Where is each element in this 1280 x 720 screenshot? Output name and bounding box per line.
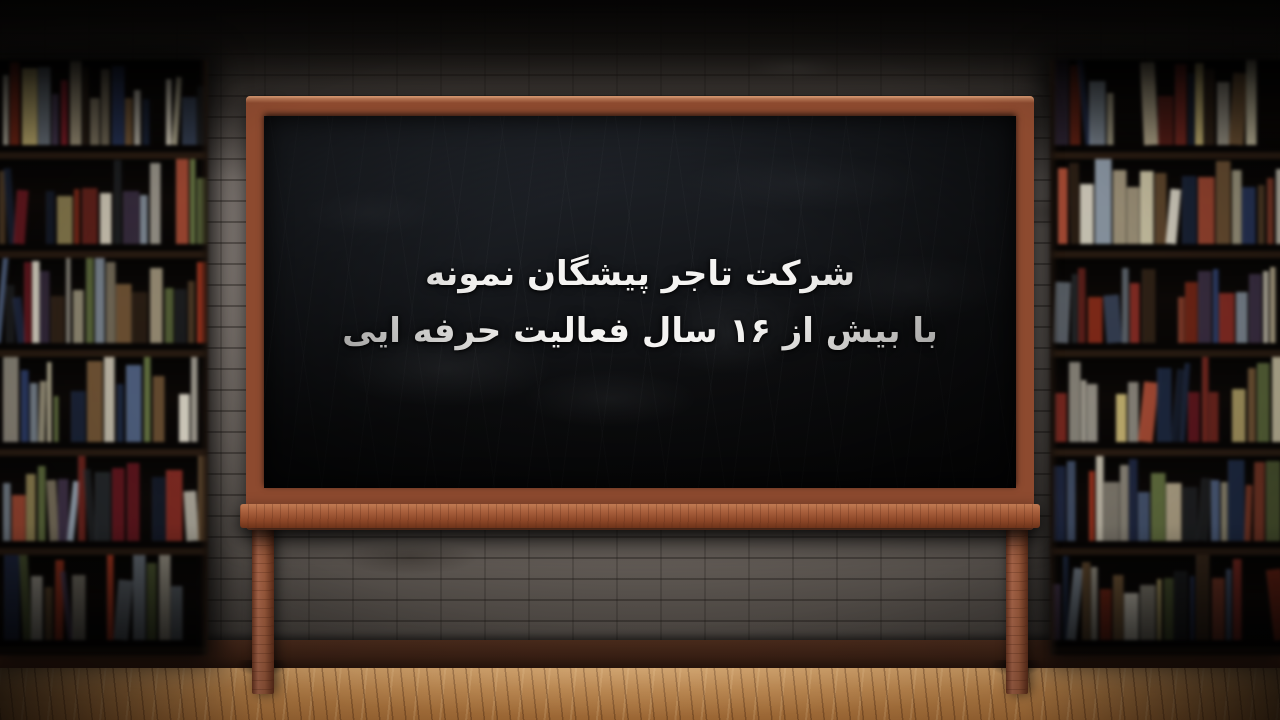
book	[1266, 568, 1280, 641]
book	[21, 370, 29, 442]
bookshelf-shelf	[1050, 258, 1280, 357]
book	[54, 396, 59, 442]
book	[1081, 380, 1086, 442]
book	[38, 67, 51, 145]
book	[1272, 357, 1280, 442]
book	[1246, 60, 1256, 145]
bookshelf-shelf	[0, 258, 208, 357]
book	[26, 474, 35, 541]
book	[1155, 173, 1167, 244]
book	[1249, 274, 1262, 343]
book	[1217, 82, 1230, 145]
book	[1202, 357, 1209, 442]
bookshelf-shelf	[0, 60, 208, 159]
book	[1072, 274, 1078, 343]
book	[1188, 73, 1195, 145]
book	[1266, 461, 1280, 541]
book	[19, 555, 32, 640]
book	[45, 587, 53, 640]
book	[140, 195, 148, 244]
book	[30, 383, 38, 442]
blackboard[interactable]: شرکت تاجر پیشگان نمونه با بیش از ۱۶ سال …	[246, 96, 1034, 530]
book	[61, 80, 68, 145]
book	[1103, 295, 1122, 344]
book	[1182, 176, 1197, 244]
book	[87, 361, 103, 442]
book	[126, 365, 142, 442]
book	[1226, 569, 1232, 640]
book	[144, 357, 151, 442]
book	[1142, 269, 1156, 344]
book	[12, 495, 26, 541]
book	[165, 288, 175, 343]
blackboard-frame-highlight	[246, 96, 1034, 103]
book	[1263, 271, 1269, 343]
book	[83, 67, 88, 145]
book	[1267, 178, 1275, 244]
book	[32, 261, 40, 343]
blackboard-line-2: با بیش از ۱۶ سال فعالیت حرفه ایی	[264, 311, 1016, 352]
book	[112, 66, 125, 145]
book	[1276, 169, 1280, 244]
book	[1100, 589, 1112, 640]
book	[1233, 559, 1242, 640]
book	[166, 470, 182, 541]
book	[1151, 473, 1166, 541]
book	[1166, 483, 1182, 541]
book	[104, 357, 115, 442]
left-bookshelf-edge	[200, 60, 208, 655]
book	[188, 281, 195, 343]
book	[1195, 63, 1204, 145]
book	[1107, 93, 1114, 145]
book	[1228, 460, 1244, 541]
book	[1254, 462, 1266, 541]
book	[1096, 456, 1103, 541]
bookshelf-shelf	[0, 555, 208, 654]
book	[1140, 585, 1156, 640]
book	[1120, 465, 1128, 541]
book	[1091, 567, 1098, 640]
book	[1198, 177, 1215, 244]
left-bookshelf	[0, 60, 208, 655]
bookshelf-shelf	[0, 456, 208, 555]
book	[1166, 189, 1182, 245]
book	[47, 362, 52, 442]
book	[176, 159, 189, 244]
book	[13, 190, 29, 244]
book	[1113, 575, 1124, 640]
book	[1229, 73, 1248, 146]
book	[1158, 96, 1174, 145]
book	[1174, 571, 1188, 640]
bookshelf-shelf	[1050, 159, 1280, 258]
book	[1219, 293, 1235, 343]
book	[1198, 271, 1211, 343]
book	[127, 463, 141, 541]
book	[1087, 384, 1098, 442]
book	[1216, 161, 1231, 244]
book	[143, 99, 150, 145]
book	[1122, 268, 1129, 343]
book	[114, 160, 121, 244]
book	[1175, 64, 1187, 145]
book	[175, 289, 187, 343]
book	[1130, 283, 1141, 343]
book	[86, 258, 95, 343]
book	[1058, 168, 1068, 244]
book	[1104, 482, 1120, 541]
book	[112, 468, 125, 541]
book	[1183, 487, 1197, 541]
bookshelf-shelf	[0, 357, 208, 456]
blackboard-line-1: شرکت تاجر پیشگان نمونه	[264, 254, 1016, 295]
book	[22, 68, 39, 145]
book	[1095, 159, 1112, 244]
book	[125, 98, 133, 145]
bookshelf-shelf	[1050, 357, 1280, 456]
book	[57, 196, 73, 244]
book	[114, 579, 134, 640]
book	[1185, 282, 1198, 343]
book	[31, 576, 44, 640]
book	[1113, 170, 1127, 244]
book	[123, 191, 139, 244]
bookshelf-shelf	[1050, 456, 1280, 555]
book	[153, 376, 165, 442]
book	[51, 296, 65, 343]
book	[1089, 81, 1105, 145]
book	[171, 586, 183, 640]
book	[95, 472, 111, 541]
book	[1088, 297, 1103, 343]
book	[1242, 187, 1256, 244]
book	[1209, 392, 1219, 442]
book	[1244, 485, 1253, 541]
book	[1212, 578, 1225, 640]
book	[179, 394, 189, 442]
book	[74, 189, 80, 244]
book	[1205, 69, 1216, 145]
book	[70, 61, 82, 145]
book	[1078, 268, 1086, 343]
book	[1127, 187, 1140, 244]
bookshelf-shelf	[1050, 555, 1280, 654]
blackboard-surface[interactable]: شرکت تاجر پیشگان نمونه با بیش از ۱۶ سال …	[264, 116, 1016, 488]
bookshelf-shelf	[0, 159, 208, 258]
book	[1082, 562, 1091, 640]
book	[1080, 184, 1094, 244]
chalk-smudges	[264, 116, 1016, 488]
book	[3, 357, 19, 442]
book	[1232, 170, 1242, 244]
book	[3, 75, 9, 145]
book	[1157, 579, 1163, 640]
blackboard-text-block: شرکت تاجر پیشگان نمونه با بیش از ۱۶ سال …	[264, 254, 1016, 353]
book	[116, 284, 131, 343]
book	[82, 188, 99, 244]
book	[159, 555, 171, 640]
book	[38, 466, 46, 541]
book	[1140, 62, 1159, 146]
book	[1232, 389, 1245, 442]
book	[38, 381, 47, 442]
book	[150, 268, 163, 343]
book	[71, 391, 87, 442]
book	[1067, 461, 1076, 541]
book	[1248, 368, 1256, 442]
book	[190, 159, 195, 244]
book	[150, 163, 162, 244]
book	[1116, 394, 1127, 442]
book	[1213, 269, 1219, 343]
chalk-tray	[240, 504, 1040, 528]
book	[1221, 482, 1228, 541]
book	[1140, 171, 1154, 244]
book	[1128, 382, 1139, 442]
book	[100, 193, 112, 244]
book	[133, 555, 146, 640]
book	[1069, 163, 1080, 244]
book	[40, 271, 49, 343]
book	[101, 69, 110, 145]
book	[4, 555, 20, 640]
book	[95, 258, 105, 343]
book	[132, 292, 149, 343]
book	[73, 290, 84, 343]
book	[1129, 459, 1138, 541]
bookshelf-shelf	[1050, 60, 1280, 159]
right-bookshelf	[1050, 60, 1280, 655]
book	[1211, 480, 1220, 541]
book	[1190, 576, 1195, 640]
book	[1178, 297, 1185, 343]
book	[117, 384, 124, 442]
book	[1164, 578, 1173, 640]
book	[3, 483, 12, 541]
book	[24, 262, 32, 343]
book	[182, 97, 197, 145]
book	[72, 575, 87, 640]
book	[1157, 368, 1172, 442]
blackboard-vignette	[264, 116, 1016, 488]
right-bookshelf-edge	[1050, 60, 1058, 655]
scene-root: شرکت تاجر پیشگان نمونه با بیش از ۱۶ سال …	[0, 0, 1280, 720]
book	[134, 90, 140, 145]
book	[46, 191, 55, 244]
floor-lighting-overlay	[0, 668, 1280, 720]
book	[1270, 267, 1277, 343]
book	[1236, 292, 1248, 343]
book	[1258, 185, 1266, 244]
book	[66, 258, 71, 343]
book	[1138, 381, 1159, 442]
book	[107, 555, 114, 640]
book	[1138, 492, 1149, 541]
book	[147, 563, 157, 640]
book	[191, 357, 198, 442]
book	[90, 98, 100, 145]
book	[52, 94, 59, 145]
book	[152, 477, 166, 541]
book	[10, 62, 20, 145]
book	[106, 262, 115, 343]
book	[1069, 362, 1082, 443]
book	[1196, 555, 1210, 640]
book	[1188, 392, 1200, 442]
book	[1124, 593, 1138, 640]
book	[1089, 471, 1096, 541]
book	[1257, 363, 1270, 442]
book	[183, 490, 199, 541]
